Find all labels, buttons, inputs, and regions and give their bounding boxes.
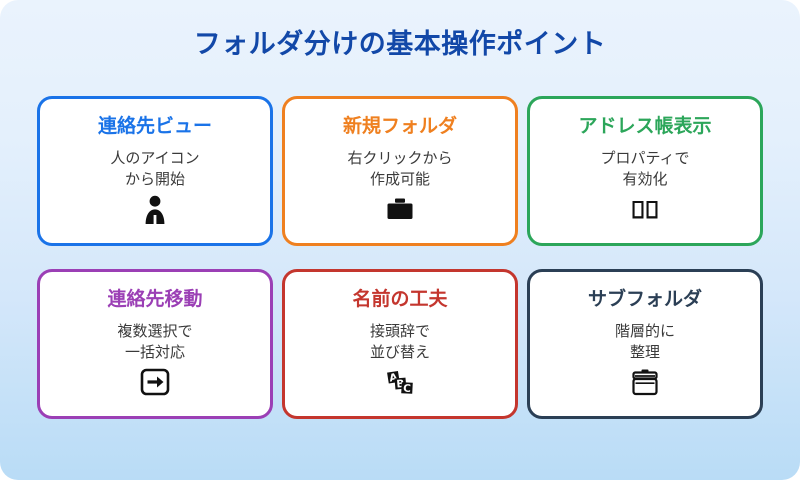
card-description: 階層的に 整理 <box>615 321 675 364</box>
card-title: サブフォルダ <box>588 289 702 310</box>
arrow-right-box-icon <box>138 365 172 399</box>
card-title: 新規フォルダ <box>343 116 457 137</box>
briefcase-icon <box>383 192 417 226</box>
card-description: 人のアイコン から開始 <box>110 148 199 191</box>
page-title: フォルダ分けの基本操作ポイント <box>0 22 800 61</box>
card-title: 連絡先移動 <box>107 289 202 310</box>
card-subfolder[interactable]: サブフォルダ 階層的に 整理 <box>527 269 763 419</box>
person-icon <box>138 192 172 226</box>
card-title: アドレス帳表示 <box>578 116 711 137</box>
card-description: 複数選択で 一括対応 <box>117 321 192 364</box>
abc-blocks-icon: A B C <box>383 365 417 399</box>
card-description: 接頭辞で 並び替え <box>370 321 430 364</box>
card-title: 連絡先ビュー <box>98 116 212 137</box>
card-naming-tips[interactable]: 名前の工夫 接頭辞で 並び替え A B C <box>282 269 518 419</box>
card-index-box-icon <box>628 365 662 399</box>
card-contacts-view[interactable]: 連絡先ビュー 人のアイコン から開始 <box>37 96 273 246</box>
card-description: プロパティで 有効化 <box>600 148 689 191</box>
infographic-canvas: フォルダ分けの基本操作ポイント 連絡先ビュー 人のアイコン から開始 新規フォル… <box>0 0 800 480</box>
card-move-contacts[interactable]: 連絡先移動 複数選択で 一括対応 <box>37 269 273 419</box>
card-description: 右クリックから 作成可能 <box>347 148 452 191</box>
card-address-book[interactable]: アドレス帳表示 プロパティで 有効化 <box>527 96 763 246</box>
card-title: 名前の工夫 <box>352 289 447 310</box>
open-book-icon <box>628 192 662 226</box>
svg-text:C: C <box>403 383 412 395</box>
card-grid: 連絡先ビュー 人のアイコン から開始 新規フォルダ 右クリックから 作成可能 <box>37 96 763 419</box>
card-new-folder[interactable]: 新規フォルダ 右クリックから 作成可能 <box>282 96 518 246</box>
